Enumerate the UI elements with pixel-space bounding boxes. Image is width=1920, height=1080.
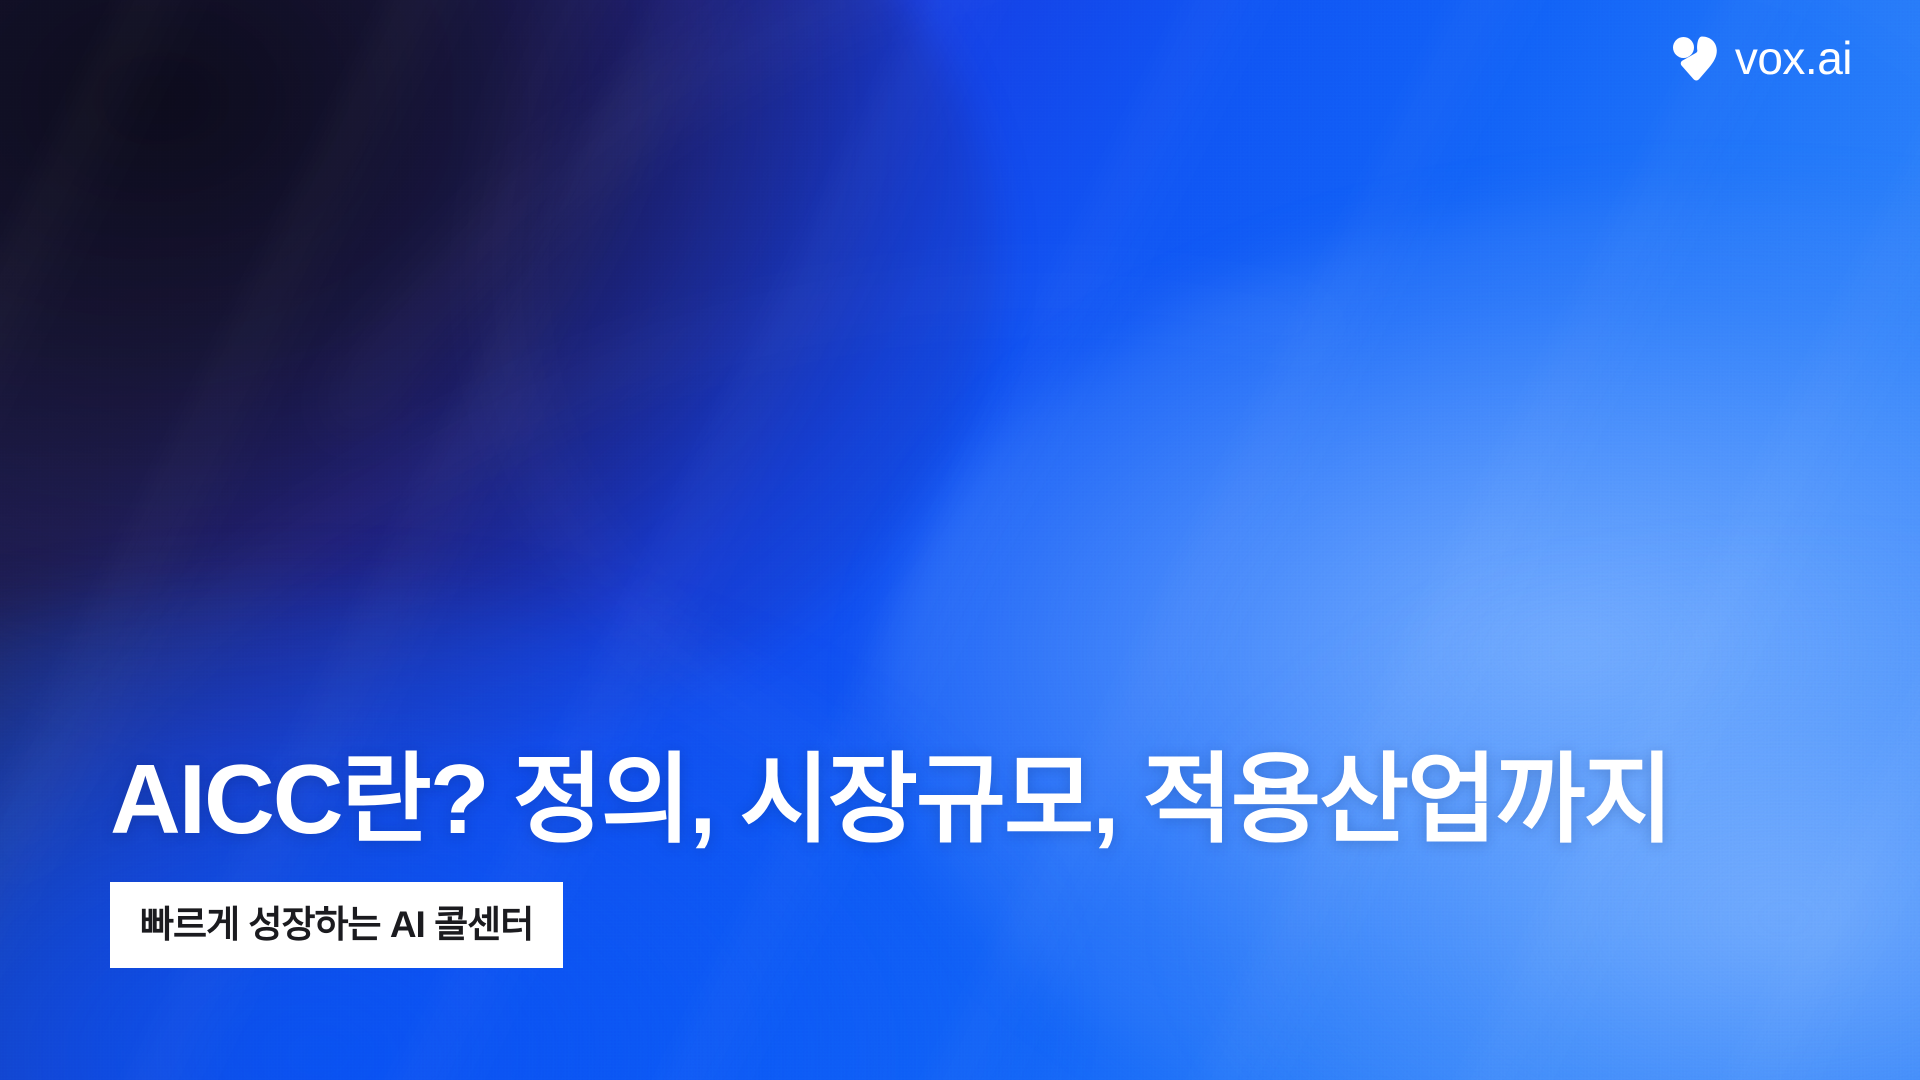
vox-ai-logo-mark-icon <box>1669 30 1725 86</box>
page-title: AICC란? 정의, 시장규모, 적용산업까지 <box>110 748 1672 852</box>
hero-text-block: AICC란? 정의, 시장규모, 적용산업까지 빠르게 성장하는 AI 콜센터 <box>110 748 1672 968</box>
hero-banner: vox.ai AICC란? 정의, 시장규모, 적용산업까지 빠르게 성장하는 … <box>0 0 1920 1080</box>
subtitle-badge: 빠르게 성장하는 AI 콜센터 <box>110 882 563 968</box>
brand-logo[interactable]: vox.ai <box>1669 30 1852 86</box>
brand-wordmark: vox.ai <box>1735 35 1852 81</box>
